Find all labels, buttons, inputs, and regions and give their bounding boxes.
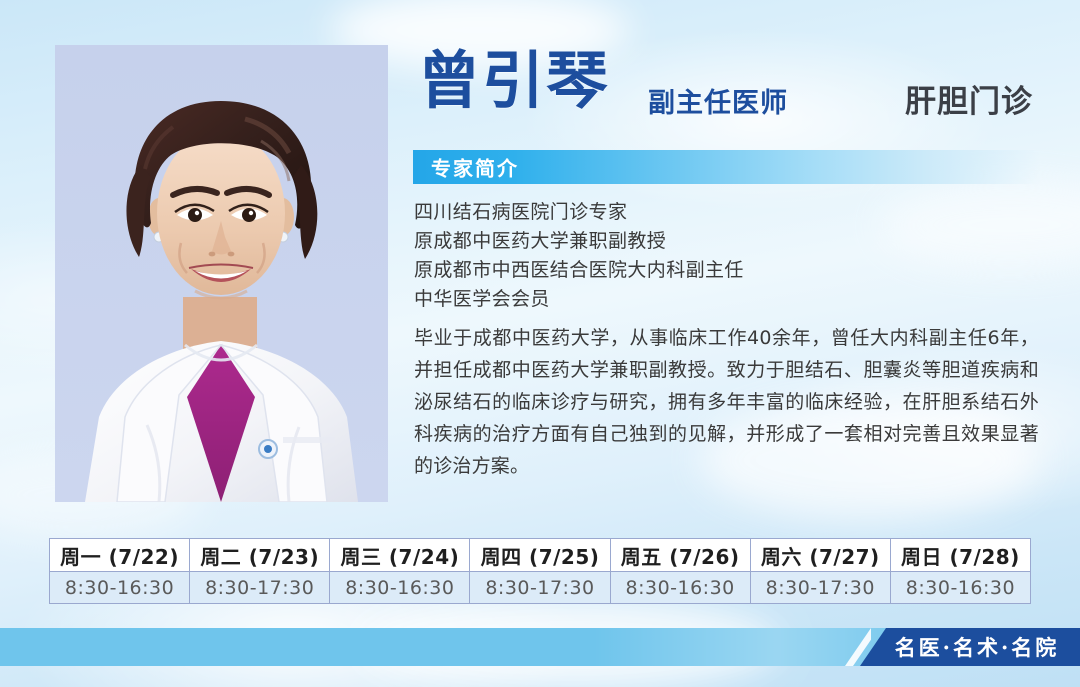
footer-slogan-text: 名医·名术·名院: [881, 632, 1060, 662]
doctor-profile-card: 曾引琴 副主任医师 肝胆门诊 专家简介 四川结石病医院门诊专家 原成都中医药大学…: [0, 0, 1080, 687]
schedule-day-header: 周一 (7/22): [50, 539, 190, 572]
schedule-hours-cell: 8:30-16:30: [330, 572, 470, 604]
schedule-header-row: 周一 (7/22) 周二 (7/23) 周三 (7/24) 周四 (7/25) …: [50, 539, 1031, 572]
schedule-hours-cell: 8:30-17:30: [470, 572, 610, 604]
credential-item: 中华医学会会员: [414, 285, 1054, 314]
schedule-hours-cell: 8:30-17:30: [190, 572, 330, 604]
profile-section-title: 专家简介: [431, 153, 519, 182]
clinic-schedule-table: 周一 (7/22) 周二 (7/23) 周三 (7/24) 周四 (7/25) …: [49, 538, 1031, 604]
credential-item: 原成都中医药大学兼职副教授: [414, 227, 1054, 256]
schedule-hours-cell: 8:30-17:30: [750, 572, 890, 604]
doctor-title: 副主任医师: [648, 90, 788, 117]
schedule-day-header: 周二 (7/23): [190, 539, 330, 572]
footer-slogan-tag: 名医·名术·名院: [860, 628, 1080, 666]
credentials-list: 四川结石病医院门诊专家 原成都中医药大学兼职副教授 原成都市中西医结合医院大内科…: [414, 198, 1054, 314]
schedule-hours-cell: 8:30-16:30: [50, 572, 190, 604]
schedule-hours-cell: 8:30-16:30: [610, 572, 750, 604]
schedule-day-header: 周四 (7/25): [470, 539, 610, 572]
schedule-day-header: 周日 (7/28): [890, 539, 1030, 572]
profile-section-bar: 专家简介: [413, 150, 1040, 184]
schedule-day-header: 周五 (7/26): [610, 539, 750, 572]
credential-item: 原成都市中西医结合医院大内科副主任: [414, 256, 1054, 285]
department-label: 肝胆门诊: [905, 87, 1033, 118]
schedule-day-header: 周六 (7/27): [750, 539, 890, 572]
portrait-illustration: [55, 45, 388, 502]
schedule-hours-cell: 8:30-16:30: [890, 572, 1030, 604]
credential-item: 四川结石病医院门诊专家: [414, 198, 1054, 227]
schedule-day-header: 周三 (7/24): [330, 539, 470, 572]
doctor-name: 曾引琴: [418, 50, 610, 112]
biography-text: 毕业于成都中医药大学，从事临床工作40余年，曾任大内科副主任6年，并担任成都中医…: [414, 322, 1039, 482]
doctor-portrait-photo: [55, 45, 388, 502]
schedule-hours-row: 8:30-16:30 8:30-17:30 8:30-16:30 8:30-17…: [50, 572, 1031, 604]
